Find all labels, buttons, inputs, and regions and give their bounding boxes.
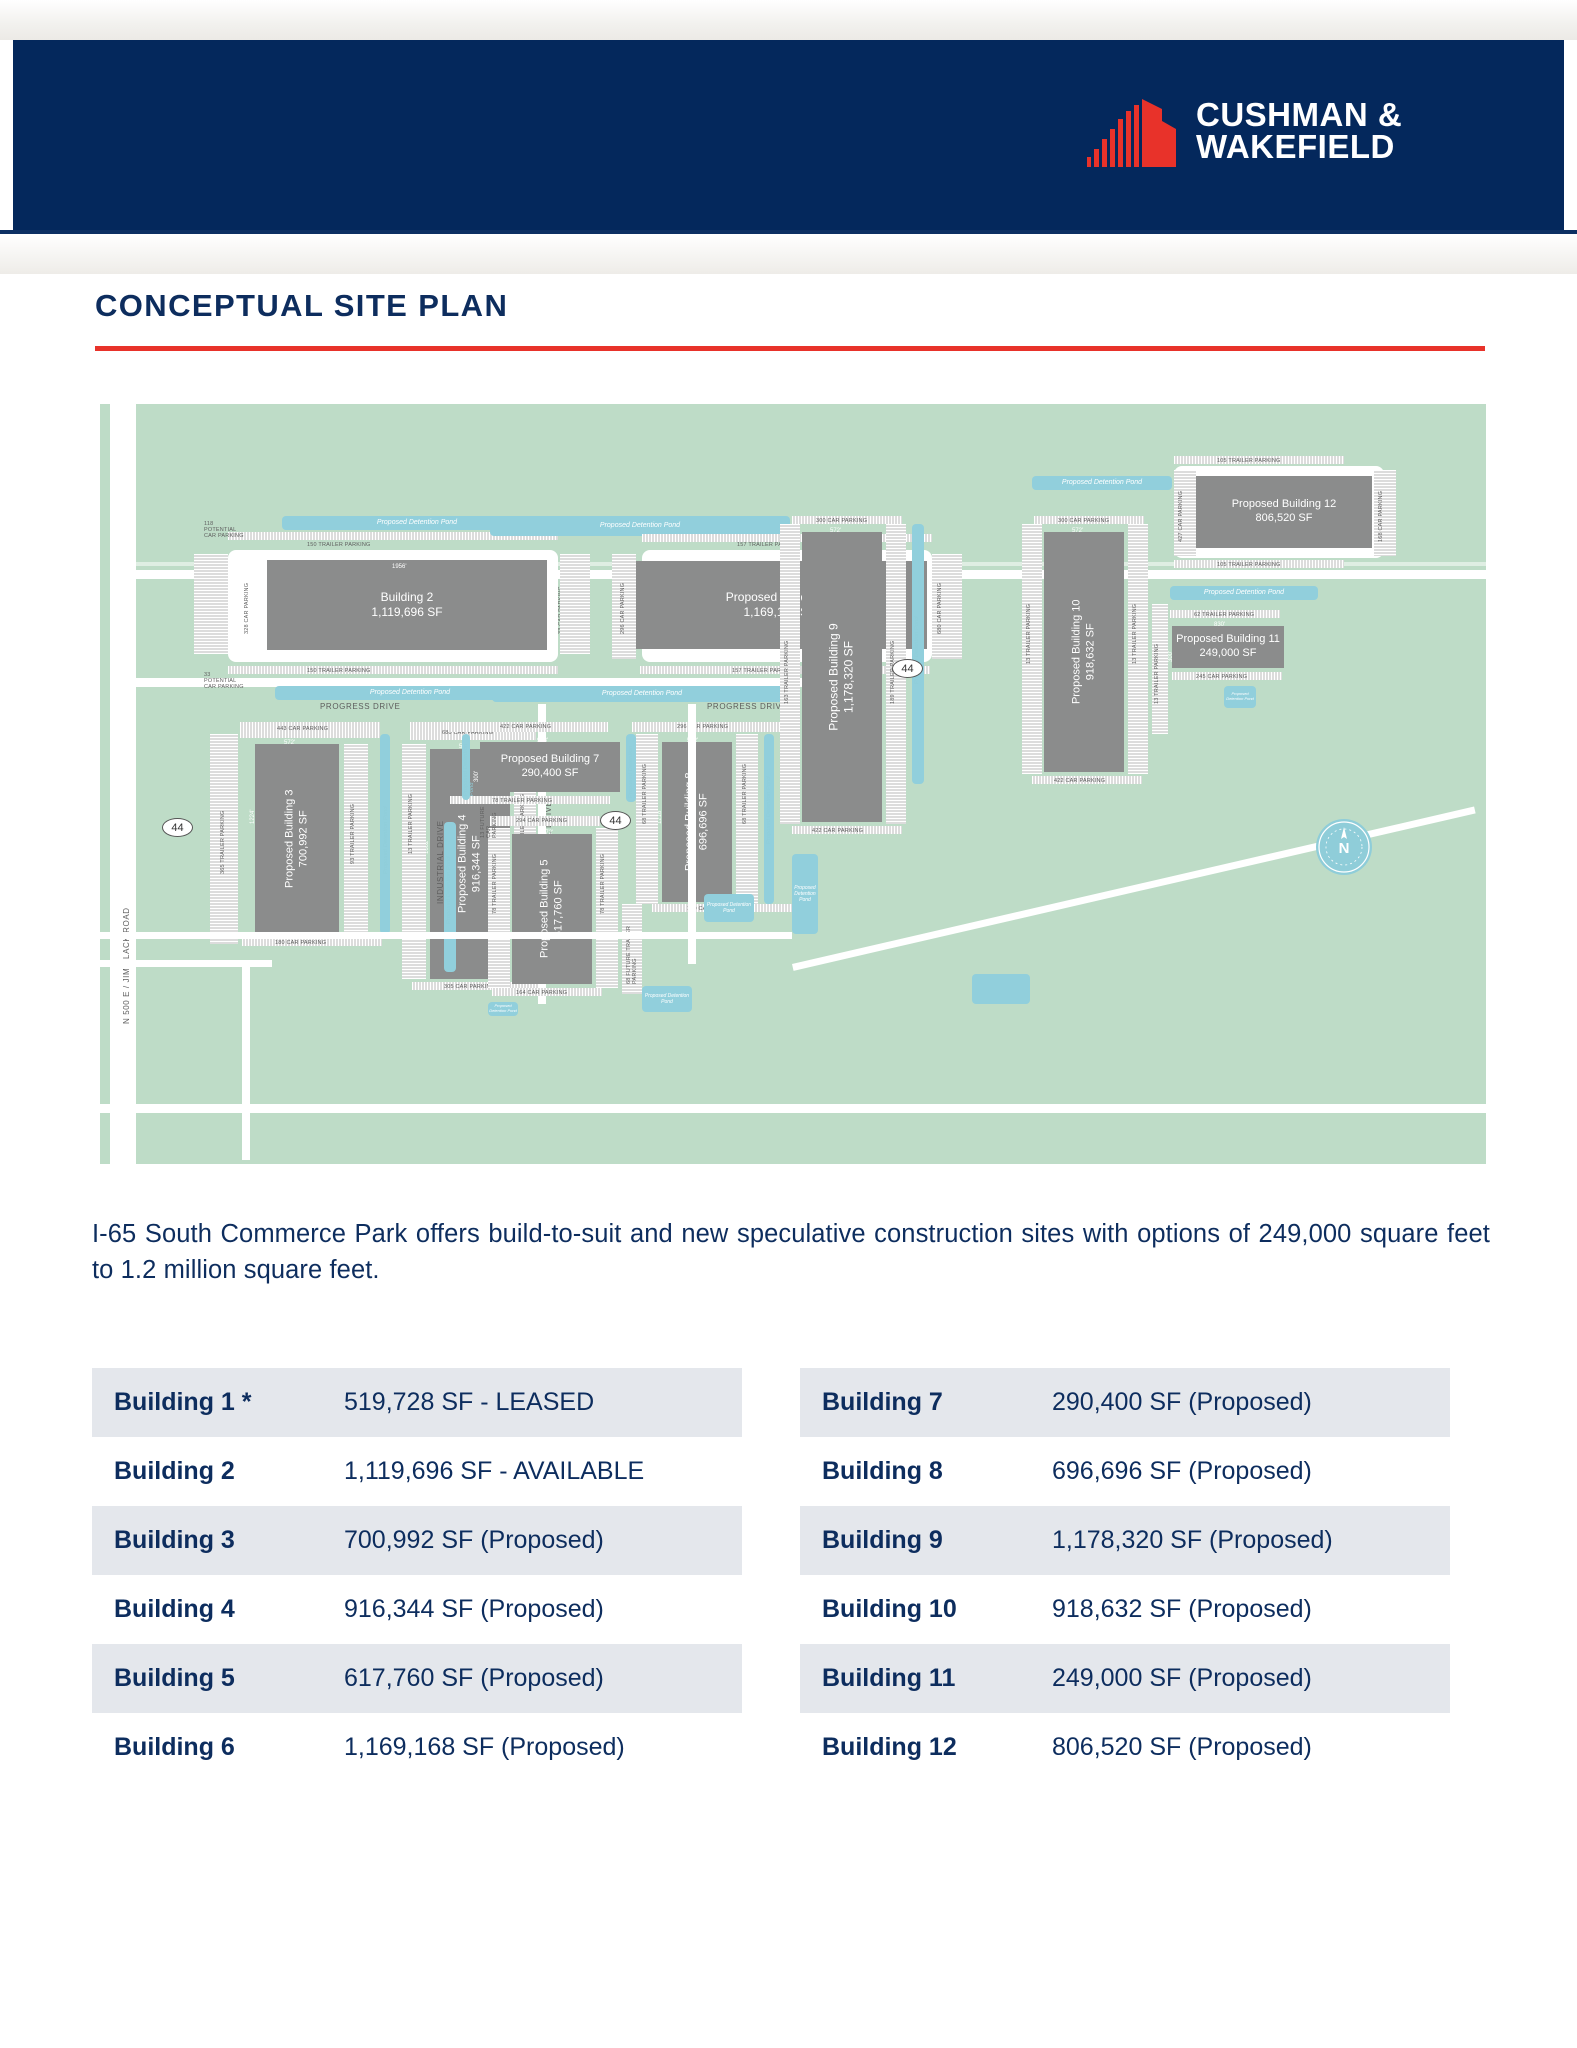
brand-name-line-2: WAKEFIELD bbox=[1196, 128, 1395, 165]
parking-label-328-car: 328 CAR PARKING bbox=[244, 583, 250, 634]
building-11-footprint[interactable]: Proposed Building 11 249,000 SF bbox=[1172, 626, 1284, 668]
intro-paragraph: I-65 South Commerce Park offers build-to… bbox=[92, 1216, 1490, 1288]
parking-label-13-trailer-b4: 13 TRAILER PARKING bbox=[408, 794, 414, 854]
route-shield-44-center: 44 bbox=[600, 811, 631, 830]
building-10-dim-short: 572' bbox=[1072, 528, 1083, 534]
parking-label-62-trailer-b11: 62 TRAILER PARKING bbox=[1194, 612, 1254, 618]
route-shield-44-west: 44 bbox=[162, 818, 193, 837]
parking-label-443-car: 443 CAR PARKING bbox=[277, 726, 328, 732]
below-header-gradient bbox=[0, 234, 1577, 274]
road-vertical-south bbox=[242, 960, 250, 1160]
parking-label-422-car-b7: 422 CAR PARKING bbox=[500, 724, 551, 730]
parking-label-427-car-b12: 427 CAR PARKING bbox=[1178, 491, 1184, 542]
building-value: 918,632 SF (Proposed) bbox=[1052, 1595, 1312, 1624]
table-row[interactable]: Building 10 918,632 SF (Proposed) bbox=[800, 1575, 1450, 1644]
building-2-sf: 1,119,696 SF bbox=[371, 605, 442, 620]
parking-label-118-potential: 118 POTENTIAL CAR PARKING bbox=[204, 521, 244, 539]
building-9-sf: 1,178,320 SF bbox=[842, 623, 857, 730]
building-label: Building 12 bbox=[822, 1733, 1052, 1762]
table-row[interactable]: Building 9 1,178,320 SF (Proposed) bbox=[800, 1506, 1450, 1575]
parking-label-300-car-b9: 300 CAR PARKING bbox=[816, 518, 867, 524]
building-3-dim-long: 1224' bbox=[250, 810, 256, 825]
table-row[interactable]: Building 8 696,696 SF (Proposed) bbox=[800, 1437, 1450, 1506]
building-label: Building 8 bbox=[822, 1457, 1052, 1486]
parking-label-422-car-b9s: 422 CAR PARKING bbox=[812, 828, 863, 834]
building-table-right: Building 7 290,400 SF (Proposed) Buildin… bbox=[800, 1368, 1450, 1782]
parking-label-68-trailer-b8-e: 68 TRAILER PARKING bbox=[742, 764, 748, 824]
table-row[interactable]: Building 3 700,992 SF (Proposed) bbox=[92, 1506, 742, 1575]
parking-label-13-future-car: 13 FUTURE CAR PARKING bbox=[480, 804, 498, 838]
parking-label-150-trailer-n: 150 TRAILER PARKING bbox=[307, 542, 371, 548]
building-3-sf: 700,992 SF bbox=[297, 790, 311, 888]
building-value: 916,344 SF (Proposed) bbox=[344, 1595, 604, 1624]
parking-label-245-car-b11: 245 CAR PARKING bbox=[1196, 674, 1247, 680]
building-value: 1,178,320 SF (Proposed) bbox=[1052, 1526, 1333, 1555]
building-label: Building 9 bbox=[822, 1526, 1052, 1555]
pond-center-south: Proposed Detention Pond bbox=[704, 894, 754, 922]
parking-label-13-trailer-b10-w: 13 TRAILER PARKING bbox=[1026, 604, 1032, 664]
building-8-footprint[interactable]: Proposed Building 8 696,696 SF bbox=[662, 742, 732, 902]
parking-label-68-trailer-b8-w: 68 TRAILER PARKING bbox=[642, 764, 648, 824]
parking-label-163-trailer-b9: 163 TRAILER PARKING bbox=[784, 640, 790, 704]
road-vertical-center bbox=[688, 704, 696, 964]
pond-label-b5-west: Proposed Detention Pond bbox=[446, 856, 452, 924]
building-label: Building 4 bbox=[114, 1595, 344, 1624]
building-12-footprint[interactable]: Proposed Building 12 806,520 SF bbox=[1196, 476, 1372, 548]
parking-label-150-trailer-s: 150 TRAILER PARKING bbox=[307, 668, 371, 674]
building-7-sf: 290,400 SF bbox=[501, 767, 599, 781]
building-5-footprint[interactable]: Proposed Building 5 617,760 SF bbox=[512, 834, 592, 984]
parking-label-296-car-b8: 296 CAR PARKING bbox=[677, 724, 728, 730]
road-west-boundary bbox=[92, 404, 100, 1164]
parking-label-13-trailer-b11: 13 TRAILER PARKING bbox=[1154, 644, 1160, 704]
building-label: Building 10 bbox=[822, 1595, 1052, 1624]
trailer-stripes-b9-west bbox=[780, 524, 800, 824]
pond-small-b5-sw: Proposed Detention Pond bbox=[488, 1002, 518, 1016]
table-row[interactable]: Building 6 1,169,168 SF (Proposed) bbox=[92, 1713, 742, 1782]
building-3-footprint[interactable]: Proposed Building 3 700,992 SF bbox=[255, 744, 339, 934]
pond-southeast bbox=[972, 974, 1030, 1004]
parking-label-105-trailer-s: 105 TRAILER PARKING bbox=[1217, 562, 1281, 568]
parking-label-422-car-b10: 422 CAR PARKING bbox=[1054, 778, 1105, 784]
table-row[interactable]: Building 12 806,520 SF (Proposed) bbox=[800, 1713, 1450, 1782]
pond-label-b3-east: Proposed Detention Pond bbox=[383, 806, 389, 874]
trailer-stripes-b10-west bbox=[1022, 524, 1042, 774]
parking-label-78-trailer-b5-w: 78 TRAILER PARKING bbox=[492, 854, 498, 914]
building-11-dim-long: 830' bbox=[1214, 622, 1225, 628]
building-8-sf: 696,696 SF bbox=[697, 773, 711, 871]
building-label: Building 11 bbox=[822, 1664, 1052, 1693]
table-row[interactable]: Building 1 * 519,728 SF - LEASED bbox=[92, 1368, 742, 1437]
conceptual-site-plan-map[interactable]: N 500 E / JIM BLACK ROAD Proposed Detent… bbox=[92, 404, 1486, 1164]
pond-b5-se: Proposed Detention Pond bbox=[642, 986, 692, 1012]
building-value: 290,400 SF (Proposed) bbox=[1052, 1388, 1312, 1417]
route-shield-44-east: 44 bbox=[892, 659, 923, 678]
building-5-dim-short: 572' bbox=[542, 830, 553, 836]
pond-retention-center: Proposed Detention Pond bbox=[792, 854, 818, 934]
building-11-name: Proposed Building 11 bbox=[1176, 633, 1280, 647]
brand-wordmark: CUSHMAN & WAKEFIELD bbox=[1196, 99, 1402, 164]
car-stripes-b2-west bbox=[194, 554, 228, 654]
building-2-name: Building 2 bbox=[371, 590, 442, 605]
compass-rose-icon: N bbox=[1316, 819, 1372, 875]
road-label-industrial-drive-south: INDUSTRIAL DRIVE bbox=[436, 820, 445, 904]
building-label: Building 3 bbox=[114, 1526, 344, 1555]
building-value: 519,728 SF - LEASED bbox=[344, 1388, 594, 1417]
table-row[interactable]: Building 7 290,400 SF (Proposed) bbox=[800, 1368, 1450, 1437]
cushman-wakefield-logo: CUSHMAN & WAKEFIELD bbox=[1086, 95, 1402, 167]
parking-label-180-car: 180 CAR PARKING bbox=[275, 940, 326, 946]
building-9-dim-short: 572' bbox=[830, 528, 841, 534]
parking-label-296-car-b6: 296 CAR PARKING bbox=[620, 583, 626, 634]
building-2-dim-short: 572' bbox=[260, 608, 266, 619]
parking-label-168-car-b12: 168 CAR PARKING bbox=[1378, 491, 1384, 542]
building-10-footprint[interactable]: Proposed Building 10 918,632 SF bbox=[1044, 532, 1124, 772]
trailer-stripes-b2-south bbox=[228, 666, 558, 674]
building-7-footprint[interactable]: Proposed Building 7 290,400 SF bbox=[480, 742, 620, 792]
parking-label-365-trailer: 365 TRAILER PARKING bbox=[220, 810, 226, 874]
highway-44-bottom bbox=[92, 1104, 1486, 1113]
building-label: Building 6 bbox=[114, 1733, 344, 1762]
building-value: 249,000 SF (Proposed) bbox=[1052, 1664, 1312, 1693]
pond-b10-north: Proposed Detention Pond bbox=[1032, 476, 1172, 490]
building-label: Building 5 bbox=[114, 1664, 344, 1693]
parking-label-78-trailer-b7: 78 TRAILER PARKING bbox=[492, 798, 552, 804]
building-value: 1,119,696 SF - AVAILABLE bbox=[344, 1457, 644, 1486]
building-7-name: Proposed Building 7 bbox=[501, 753, 599, 767]
building-value: 696,696 SF (Proposed) bbox=[1052, 1457, 1312, 1486]
header-right-margin bbox=[1564, 40, 1577, 230]
building-10-sf: 918,632 SF bbox=[1084, 600, 1098, 705]
building-2-footprint[interactable]: Building 2 1,119,696 SF bbox=[267, 560, 547, 650]
building-5-name: Proposed Building 5 bbox=[538, 860, 552, 958]
table-row[interactable]: Building 4 916,344 SF (Proposed) bbox=[92, 1575, 742, 1644]
building-3-dim-short: 572' bbox=[284, 740, 295, 746]
svg-text:N: N bbox=[1339, 840, 1350, 857]
road-label-progress-drive-east: PROGRESS DRIVE bbox=[707, 702, 787, 711]
parking-label-294-car-b5: 294 CAR PARKING bbox=[516, 818, 567, 824]
pond-b6-south: Proposed Detention Pond bbox=[492, 686, 792, 702]
parking-label-78-trailer-b5-e: 78 TRAILER PARKING bbox=[600, 854, 606, 914]
parking-label-33-potential: 33 POTENTIAL CAR PARKING bbox=[204, 672, 244, 690]
building-value: 700,992 SF (Proposed) bbox=[344, 1526, 604, 1555]
title-red-rule bbox=[95, 346, 1485, 351]
building-5-sf: 617,760 SF bbox=[552, 860, 566, 958]
building-10-name: Proposed Building 10 bbox=[1070, 600, 1084, 705]
building-7-dim-long: 968' bbox=[537, 738, 548, 744]
pond-b11-north: Proposed Detention Pond bbox=[1170, 586, 1318, 600]
table-row[interactable]: Building 2 1,119,696 SF - AVAILABLE bbox=[92, 1437, 742, 1506]
road-n500e-jim-black bbox=[110, 404, 136, 1164]
trailer-stripes-b3-east bbox=[344, 744, 368, 934]
building-12-dim-long: 1410' bbox=[1272, 472, 1287, 478]
cw-building-icon bbox=[1086, 95, 1182, 167]
pond-b11-south: Proposed Detention Pond bbox=[1224, 686, 1256, 708]
car-stripes-b2-east bbox=[560, 554, 590, 654]
building-2-dim-long: 1956' bbox=[392, 564, 407, 570]
building-label: Building 2 bbox=[114, 1457, 344, 1486]
pond-label-b7-west: Proposed Detention Pond bbox=[463, 736, 475, 796]
pond-label-b8-east: Proposed Detention Pond bbox=[766, 776, 772, 844]
parking-label-13-trailer-b10-e: 13 TRAILER PARKING bbox=[1132, 604, 1138, 664]
building-value: 617,760 SF (Proposed) bbox=[344, 1664, 604, 1693]
building-12-name: Proposed Building 12 bbox=[1232, 498, 1337, 512]
parking-label-164-car-b5: 164 CAR PARKING bbox=[516, 990, 567, 996]
building-table-left: Building 1 * 519,728 SF - LEASED Buildin… bbox=[92, 1368, 742, 1782]
building-11-dim-short: 300' bbox=[1168, 651, 1174, 662]
building-label: Building 1 * bbox=[114, 1388, 344, 1417]
building-4-name: Proposed Building 4 bbox=[456, 815, 470, 913]
table-row[interactable]: Building 5 617,760 SF (Proposed) bbox=[92, 1644, 742, 1713]
trailer-stripes-b4-west bbox=[402, 744, 426, 979]
road-label-progress-drive-west: PROGRESS DRIVE bbox=[320, 702, 400, 711]
building-12-sf: 806,520 SF bbox=[1232, 512, 1337, 526]
building-3-name: Proposed Building 3 bbox=[283, 790, 297, 888]
parking-label-93-trailer: 93 TRAILER PARKING bbox=[350, 804, 356, 864]
header-left-margin bbox=[0, 40, 13, 230]
highway-44-west bbox=[92, 932, 792, 939]
building-9-name: Proposed Building 9 bbox=[827, 623, 842, 730]
building-value: 1,169,168 SF (Proposed) bbox=[344, 1733, 625, 1762]
parking-label-680-car-b6: 680 CAR PARKING bbox=[937, 583, 943, 634]
page-top-gradient-strip bbox=[0, 0, 1577, 40]
trailer-stripes-b10-east bbox=[1128, 524, 1148, 774]
parking-label-300-car-b10: 300 CAR PARKING bbox=[1058, 518, 1109, 524]
table-row[interactable]: Building 11 249,000 SF (Proposed) bbox=[800, 1644, 1450, 1713]
pond-b6-north: Proposed Detention Pond bbox=[490, 516, 790, 536]
page-title: CONCEPTUAL SITE PLAN bbox=[95, 288, 508, 324]
parking-label-105-trailer-n: 105 TRAILER PARKING bbox=[1217, 458, 1281, 464]
building-value: 806,520 SF (Proposed) bbox=[1052, 1733, 1312, 1762]
building-11-sf: 249,000 SF bbox=[1176, 647, 1280, 661]
building-9-footprint[interactable]: Proposed Building 9 1,178,320 SF bbox=[802, 532, 882, 822]
building-label: Building 7 bbox=[822, 1388, 1052, 1417]
